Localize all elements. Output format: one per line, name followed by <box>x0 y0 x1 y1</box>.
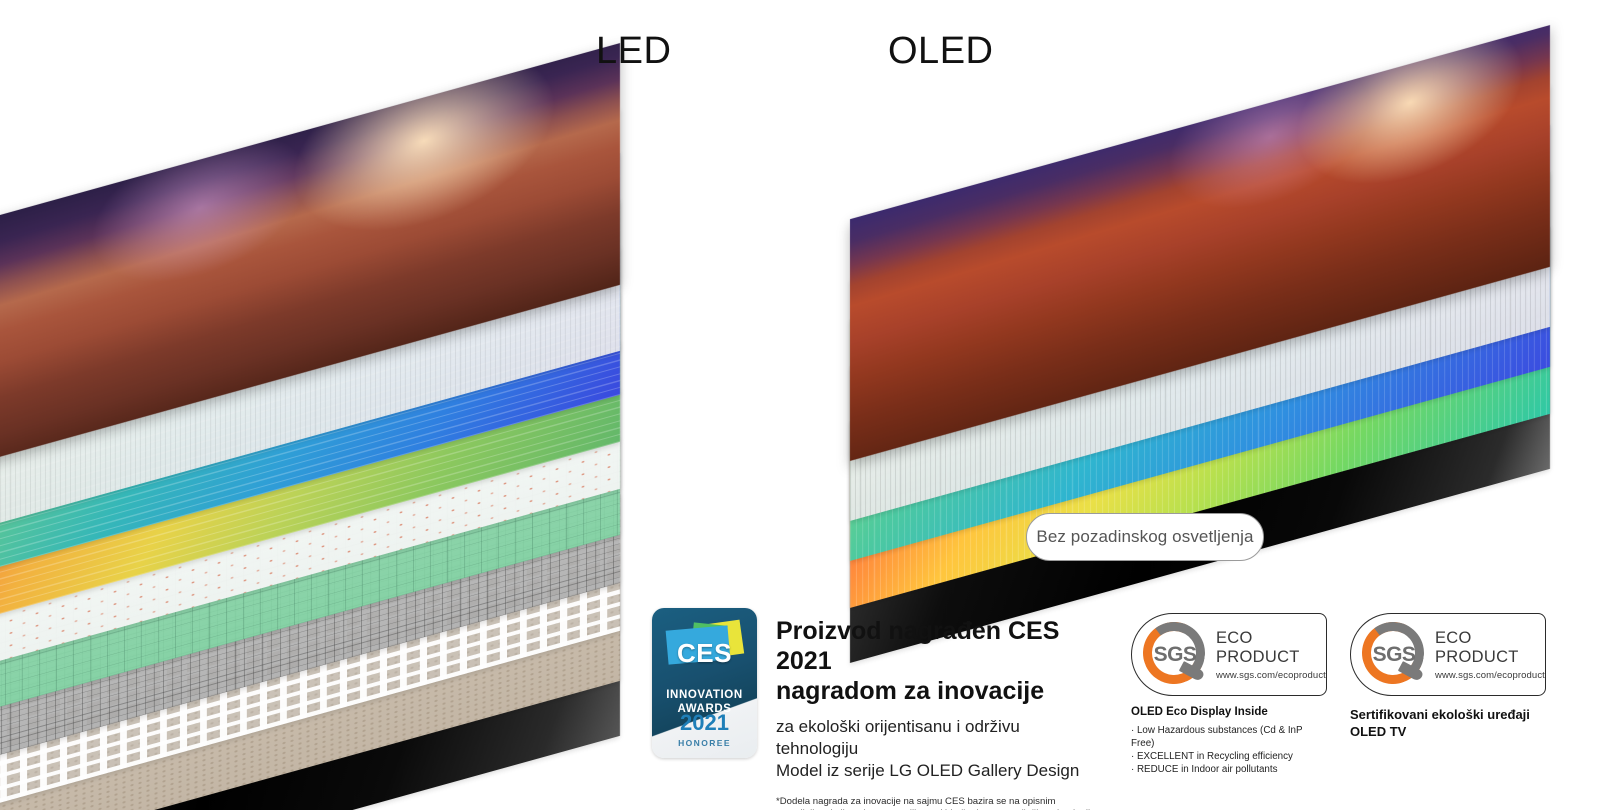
sgs-bullet-1: · Low Hazardous substances (Cd & InP Fre… <box>1131 724 1327 750</box>
ces-innovation-awards-badge: CES INNOVATION AWARDS 2021 HONOREE <box>652 608 757 758</box>
sgs-bullets-1: · Low Hazardous substances (Cd & InP Fre… <box>1131 724 1327 776</box>
no-backlight-label: Bez pozadinskog osvetljenja <box>1036 527 1253 547</box>
award-heading: Proizvod nagrađen CES 2021 nagradom za i… <box>776 616 1096 706</box>
sgs-caption-2: Sertifikovani ekološki uređaji OLED TV <box>1350 706 1546 740</box>
award-sub-line1: za ekološki orijentisanu i održivu tehno… <box>776 716 1096 760</box>
sgs-bullet-2: · EXCELLENT in Recycling efficiency <box>1131 750 1327 763</box>
sgs-text-group-2: ECO PRODUCT www.sgs.com/ecoproduct <box>1435 629 1545 681</box>
infographic-root: LED OLED Bez pozadinskog osvetljenja CES… <box>0 0 1600 810</box>
no-backlight-pill: Bez pozadinskog osvetljenja <box>1026 513 1264 561</box>
sgs-card-1: SGS ECO PRODUCT www.sgs.com/ecoproduct <box>1131 613 1327 696</box>
sgs-logo-icon: SGS <box>1136 616 1214 694</box>
ces-award-text: Proizvod nagrađen CES 2021 nagradom za i… <box>776 616 1096 810</box>
award-heading-line1: Proizvod nagrađen CES 2021 <box>776 616 1096 676</box>
ces-badge-honoree: HONOREE <box>652 738 757 748</box>
sgs-eco-label: ECO PRODUCT <box>1435 629 1545 667</box>
award-subheading: za ekološki orijentisanu i održivu tehno… <box>776 716 1096 782</box>
award-heading-line2: nagradom za inovacije <box>776 676 1096 706</box>
oled-layer-stack <box>830 20 1600 520</box>
award-sub-line2: Model iz serije LG OLED Gallery Design <box>776 760 1096 782</box>
sgs-logo-text: SGS <box>1355 643 1433 667</box>
ces-badge-line1: INNOVATION <box>666 688 743 702</box>
led-panel-title: LED <box>596 30 671 73</box>
award-footnote: *Dodela nagrada za inovacije na sajmu CE… <box>776 796 1096 810</box>
ces-award-block: CES INNOVATION AWARDS 2021 HONOREE Proiz… <box>652 608 1092 788</box>
sgs-url: www.sgs.com/ecoproduct <box>1216 670 1326 681</box>
sgs-eco-product-badge-1: SGS ECO PRODUCT www.sgs.com/ecoproduct O… <box>1131 613 1327 776</box>
sgs-text-group-1: ECO PRODUCT www.sgs.com/ecoproduct <box>1216 629 1326 681</box>
sgs-url: www.sgs.com/ecoproduct <box>1435 670 1545 681</box>
oled-panel-title: OLED <box>888 30 993 73</box>
sgs-caption-1: OLED Eco Display Inside <box>1131 705 1327 720</box>
sgs-caption-2-line2: OLED TV <box>1350 723 1546 740</box>
sgs-logo-icon: SGS <box>1355 616 1433 694</box>
sgs-caption-2-line1: Sertifikovani ekološki uređaji <box>1350 706 1546 723</box>
sgs-bullet-3: · REDUCE in Indoor air pollutants <box>1131 763 1327 776</box>
ces-badge-year: 2021 <box>652 710 757 736</box>
sgs-card-2: SGS ECO PRODUCT www.sgs.com/ecoproduct <box>1350 613 1546 696</box>
led-layer-stack <box>0 20 740 780</box>
sgs-eco-product-badge-2: SGS ECO PRODUCT www.sgs.com/ecoproduct S… <box>1350 613 1546 740</box>
ces-logo-marks: CES <box>662 620 748 682</box>
sgs-logo-text: SGS <box>1136 643 1214 667</box>
ces-logo-text: CES <box>662 638 748 669</box>
sgs-eco-label: ECO PRODUCT <box>1216 629 1326 667</box>
